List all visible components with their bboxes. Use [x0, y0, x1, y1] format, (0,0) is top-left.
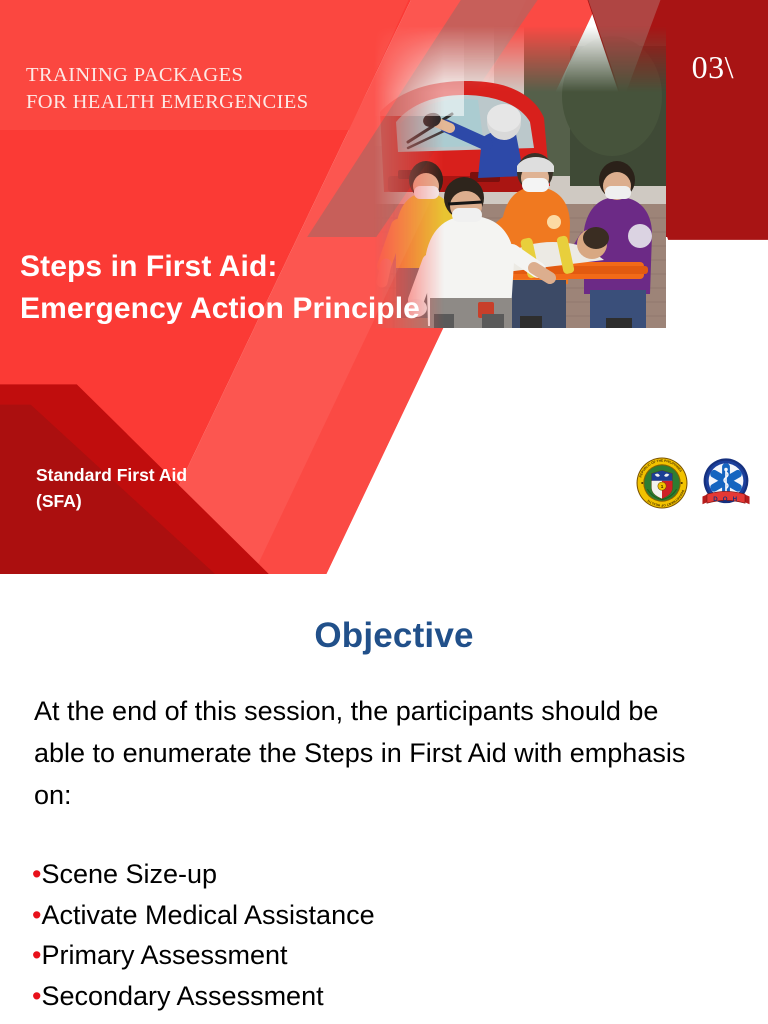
list-item: •Primary Assessment — [32, 935, 732, 976]
course-subtitle: Standard First Aid (SFA) — [36, 462, 376, 514]
list-item: •Activate Medical Assistance — [32, 895, 732, 936]
slide-number: 03\ — [692, 50, 734, 84]
list-item: •Scene Size-up — [32, 854, 732, 895]
list-item-label: Secondary Assessment — [41, 981, 323, 1011]
slide-root: TRAINING PACKAGES FOR HEALTH EMERGENCIES… — [0, 0, 768, 1024]
objective-paragraph: At the end of this session, the particip… — [34, 690, 686, 816]
doh-star-of-life-emblem-icon: D O H — [698, 455, 754, 511]
svg-text:1: 1 — [661, 484, 664, 489]
list-item-label: Activate Medical Assistance — [41, 900, 374, 930]
header-banner: TRAINING PACKAGES FOR HEALTH EMERGENCIES… — [0, 0, 768, 578]
objective-bullet-list: •Scene Size-up •Activate Medical Assista… — [32, 854, 732, 1016]
objective-heading: Objective — [0, 616, 768, 656]
page-title: Steps in First Aid: Emergency Action Pri… — [20, 246, 540, 330]
list-item-label: Scene Size-up — [41, 859, 217, 889]
list-item: •Secondary Assessment — [32, 976, 732, 1017]
logo-group: REPUBLIC OF THE PHILIPPINES DEPARTMENT O… — [636, 455, 754, 511]
svg-text:D O H: D O H — [713, 496, 739, 503]
list-item-label: Primary Assessment — [41, 940, 287, 970]
banner-kicker-text: TRAINING PACKAGES FOR HEALTH EMERGENCIES — [26, 62, 386, 116]
doh-republic-philippines-seal-icon: REPUBLIC OF THE PHILIPPINES DEPARTMENT O… — [636, 457, 688, 509]
